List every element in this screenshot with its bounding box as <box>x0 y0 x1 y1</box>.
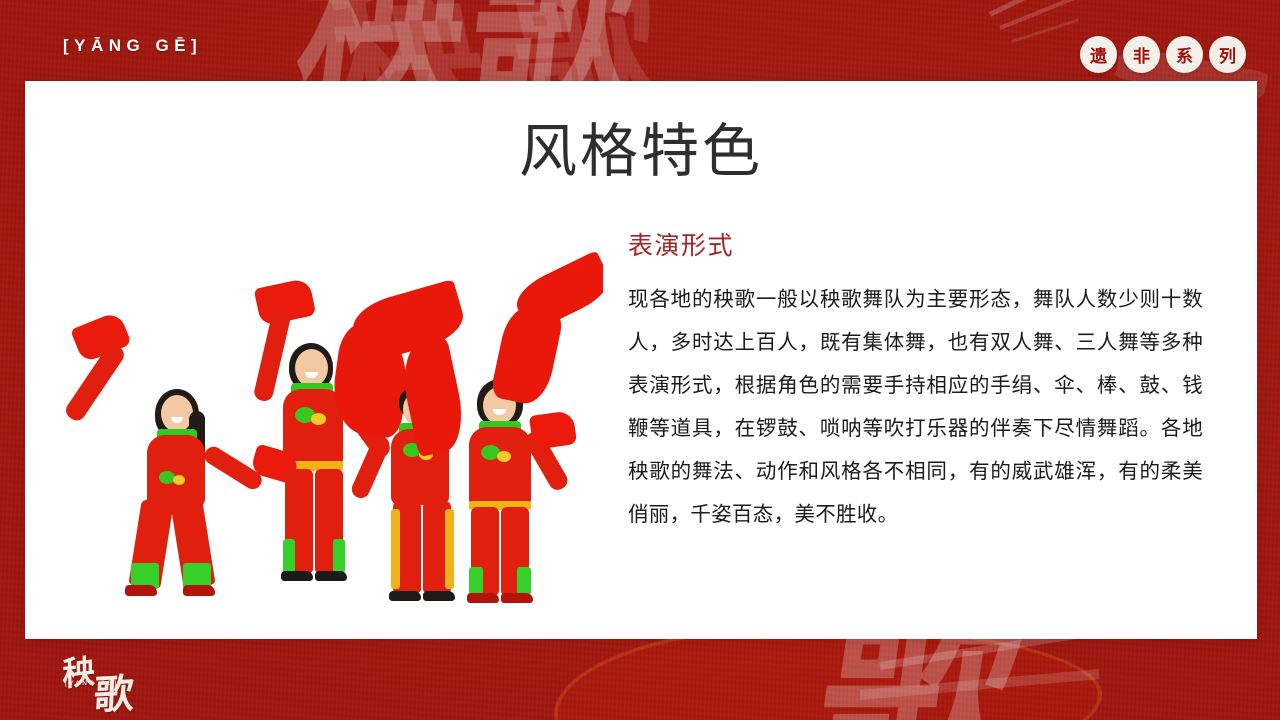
torso-shape <box>147 435 205 507</box>
shoe-shape <box>501 593 533 603</box>
body-paragraph: 现各地的秧歌一般以秧歌舞队为主要形态，舞队人数少则十数人，多时达上百人，既有集体… <box>628 278 1203 536</box>
trouser-stripe <box>283 539 295 573</box>
text-column: 表演形式 现各地的秧歌一般以秧歌舞队为主要形态，舞队人数少则十数人，多时达上百人… <box>628 226 1203 536</box>
costume-knot <box>311 413 326 425</box>
dancers-photo <box>63 221 603 621</box>
footer-logo-romanization: [YANG GE] <box>65 680 119 687</box>
footer-logo[interactable]: 秧 歌 [YANG GE] <box>58 648 163 708</box>
series-badge-2[interactable]: 非 <box>1123 36 1160 73</box>
section-subheading: 表演形式 <box>628 226 1203 262</box>
slide-root: 秧歌 秧歌 歌 [YĀNG GĒ] 遗 非 系 列 风格特色 <box>0 0 1280 720</box>
header-pinyin-label: [YĀNG GĒ] <box>63 36 202 56</box>
page-title: 风格特色 <box>25 104 1257 188</box>
footer-logo-char-2: 歌 <box>93 661 136 720</box>
series-badge-4[interactable]: 列 <box>1209 36 1246 73</box>
shoe-shape <box>125 585 157 596</box>
shoe-shape <box>281 571 313 581</box>
content-card: 风格特色 <box>25 81 1257 639</box>
arm-shape <box>253 309 292 403</box>
series-badge-3[interactable]: 系 <box>1166 36 1203 73</box>
trouser-stripe <box>469 567 483 595</box>
shoe-shape <box>467 593 499 603</box>
costume-knot <box>173 475 185 485</box>
series-badge-group: 遗 非 系 列 <box>1080 36 1246 73</box>
footer-logo-char-1: 秧 <box>62 644 96 696</box>
handkerchief-prop <box>529 410 577 450</box>
costume-knot <box>497 451 511 462</box>
arm-shape <box>349 433 392 501</box>
trouser-stripe <box>517 567 531 595</box>
head-shape <box>295 349 328 387</box>
torso-shape <box>469 427 531 507</box>
trouser-stripe <box>391 509 400 589</box>
series-badge-1[interactable]: 遗 <box>1080 36 1117 73</box>
